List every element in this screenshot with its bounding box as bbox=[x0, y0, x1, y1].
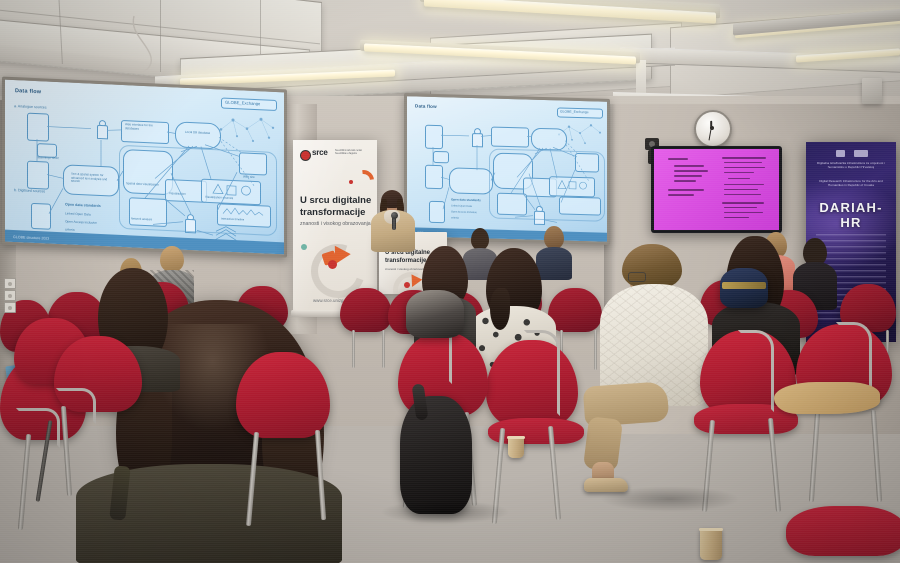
chair-armrail[interactable] bbox=[56, 388, 96, 424]
chair-back[interactable] bbox=[340, 288, 392, 332]
srce-logo-text: srce bbox=[312, 149, 328, 158]
left-projection-screen: Data flow GLOBE_Exchange a. Analogue sou… bbox=[5, 80, 284, 255]
conference-room-photo: Data flow GLOBE_Exchange a. Analogue sou… bbox=[0, 0, 900, 563]
srce-banner: srce Sveučilišni računski centar Sveučil… bbox=[293, 140, 377, 312]
chair-seat[interactable] bbox=[786, 506, 900, 556]
audience-person-right-legs bbox=[576, 384, 672, 480]
srce-logo-subtext: Sveučilišni računski centar Sveučilišta … bbox=[335, 150, 373, 156]
chair-leg bbox=[594, 330, 597, 370]
right-projection-screen: Data flow GLOBE_Exchange bbox=[407, 96, 607, 242]
chair-leg bbox=[352, 330, 355, 368]
podium-decor-dot bbox=[404, 282, 410, 288]
wall-outlet[interactable] bbox=[4, 278, 16, 289]
wall-outlet[interactable] bbox=[4, 302, 16, 313]
chair-armrail[interactable] bbox=[16, 408, 60, 448]
chair-writing-tablet[interactable] bbox=[774, 382, 880, 414]
hair-front-strand bbox=[490, 288, 510, 330]
dariah-title: DARIAH-HR bbox=[813, 200, 889, 230]
audience-person-right-cream bbox=[600, 244, 708, 404]
chair-armrail[interactable] bbox=[524, 330, 560, 416]
chair-leg bbox=[18, 434, 31, 530]
chair-leg bbox=[382, 330, 385, 368]
presenter bbox=[366, 190, 420, 250]
wall-monitor-screen[interactable] bbox=[654, 149, 779, 230]
srce-subheadline: znanosti i visokog obrazovanja bbox=[300, 221, 371, 227]
decor-dot-teal bbox=[301, 244, 307, 250]
wall-clock bbox=[694, 110, 732, 148]
eu-logo-icon bbox=[836, 150, 845, 157]
wall-outlet[interactable] bbox=[4, 290, 16, 301]
coffee-cup[interactable] bbox=[700, 528, 722, 560]
floor-shadow bbox=[600, 486, 740, 512]
backpack[interactable] bbox=[406, 290, 464, 338]
wall-speaker bbox=[862, 78, 882, 104]
slide-connectors-r bbox=[407, 96, 607, 242]
srce-headline-line2: transformacije bbox=[300, 208, 365, 219]
clock-centre-pin bbox=[710, 126, 714, 130]
decor-dot-centre-red bbox=[328, 260, 337, 269]
dariah-subtitle-en: Digital Research Infrastructure for the … bbox=[814, 180, 888, 188]
coffee-cup[interactable] bbox=[508, 436, 524, 458]
partner-logo-icon bbox=[854, 150, 868, 157]
head bbox=[544, 226, 564, 249]
ceiling-cable bbox=[128, 14, 168, 74]
microphone-head-icon bbox=[391, 212, 398, 219]
dariah-subtitle-hr: Digitalna istraživačka infrastruktura za… bbox=[814, 162, 888, 170]
chair-armrail[interactable] bbox=[738, 330, 774, 412]
chair-back[interactable] bbox=[548, 288, 602, 332]
glasses-icon bbox=[628, 272, 646, 282]
srce-headline-line1: U srcu digitalne bbox=[300, 196, 371, 207]
backpack[interactable] bbox=[400, 396, 472, 514]
slide-connectors bbox=[5, 80, 284, 255]
srce-logo-mark-icon bbox=[300, 150, 311, 161]
wall-monitor-bezel bbox=[651, 146, 782, 233]
backpack-trim bbox=[722, 282, 766, 289]
floor-shadow bbox=[380, 500, 510, 524]
